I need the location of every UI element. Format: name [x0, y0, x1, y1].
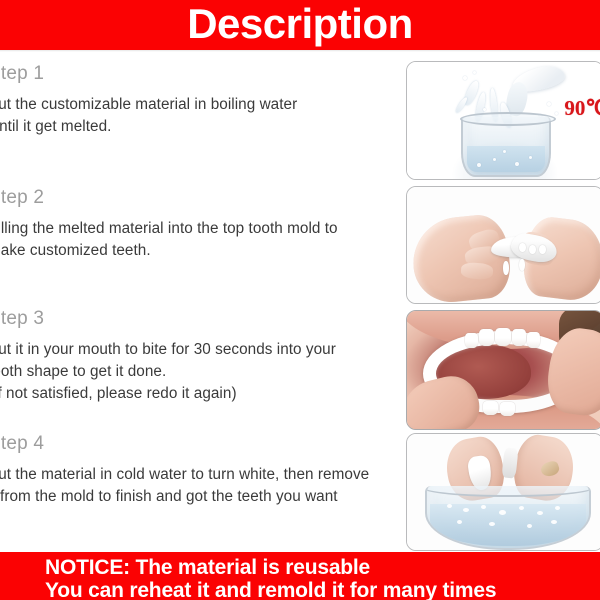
bowl-water-fill: [430, 504, 586, 546]
bubble-icon: [515, 162, 519, 166]
bubble-icon: [447, 504, 452, 508]
steps-column: Step 1 Put the customizable material in …: [0, 52, 404, 547]
water-droplet-icon: [463, 76, 467, 80]
step-2-photo-hands-filling-mold: [406, 186, 600, 304]
bubble-icon: [555, 506, 560, 510]
step-item-3: Step 3 Put it in your mouth to bite for …: [0, 307, 404, 405]
step-4-body: Put the material in cold water to turn w…: [0, 464, 404, 508]
bubble-icon: [503, 150, 506, 153]
bubble-icon: [489, 522, 495, 526]
step-item-1: Step 1 Put the customizable material in …: [0, 62, 404, 138]
tooth-icon: [527, 332, 540, 348]
bubble-icon: [527, 524, 532, 528]
water-droplet-icon: [473, 71, 476, 74]
tooth-icon: [539, 245, 546, 254]
tooth-icon: [465, 333, 478, 348]
tooth-icon: [512, 329, 526, 346]
temperature-label: 90℃: [564, 96, 600, 121]
bubble-icon: [477, 163, 481, 167]
bubble-icon: [493, 158, 496, 161]
material-strip-icon: [503, 261, 509, 275]
step-2-body: Filling the melted material into the top…: [0, 218, 404, 262]
bubble-icon: [499, 510, 506, 515]
water-droplet-icon: [555, 112, 558, 115]
notice-line-1: NOTICE: The material is reusable: [45, 555, 370, 580]
notice-bar: NOTICE: The material is reusable You can…: [0, 552, 600, 600]
tooth-icon: [500, 402, 515, 416]
step-3-photo-mouth-biting-veneer: [406, 310, 600, 430]
bubble-icon: [463, 508, 469, 512]
step-item-4: Step 4 Put the material in cold water to…: [0, 432, 404, 508]
tooth-icon: [495, 328, 511, 346]
product-description-page: Description Step 1 Put the customizable …: [0, 0, 600, 600]
tooth-icon: [529, 245, 536, 254]
step-2-label: Step 2: [0, 186, 404, 210]
step-3-label: Step 3: [0, 307, 404, 331]
tooth-icon: [519, 243, 526, 252]
page-title: Description: [0, 0, 600, 50]
bubble-icon: [457, 520, 462, 524]
water-droplet-icon: [547, 102, 551, 106]
step-item-2: Step 2 Filling the melted material into …: [0, 186, 404, 262]
notice-line-2: You can reheat it and remold it for many…: [45, 578, 496, 600]
bubble-icon: [551, 520, 557, 524]
step-4-label: Step 4: [0, 432, 404, 456]
bubble-icon: [529, 156, 532, 159]
water-droplet-icon: [483, 108, 486, 111]
step-1-label: Step 1: [0, 62, 404, 86]
step-3-body: Put it in your mouth to bite for 30 seco…: [0, 339, 404, 405]
material-strip-icon: [519, 259, 525, 271]
step-1-body: Put the customizable material in boiling…: [0, 94, 404, 138]
bubble-icon: [481, 505, 486, 509]
header-bar: Description: [0, 0, 600, 50]
step-1-photo-boiling-water-glass: 90℃: [406, 61, 600, 180]
tooth-icon: [479, 329, 494, 346]
photos-column: 90℃: [406, 52, 600, 548]
bubble-icon: [537, 511, 543, 515]
photo-3-content: [407, 311, 600, 429]
photo-2-content: [407, 187, 600, 303]
glass-icon: [461, 117, 551, 177]
tooth-icon: [483, 401, 498, 415]
photo-4-content: [407, 434, 600, 550]
step-4-photo-cold-water-bowl: [406, 433, 600, 551]
photo-1-content: 90℃: [407, 62, 600, 179]
bubble-icon: [519, 506, 524, 510]
glass-water-fill: [467, 146, 545, 172]
